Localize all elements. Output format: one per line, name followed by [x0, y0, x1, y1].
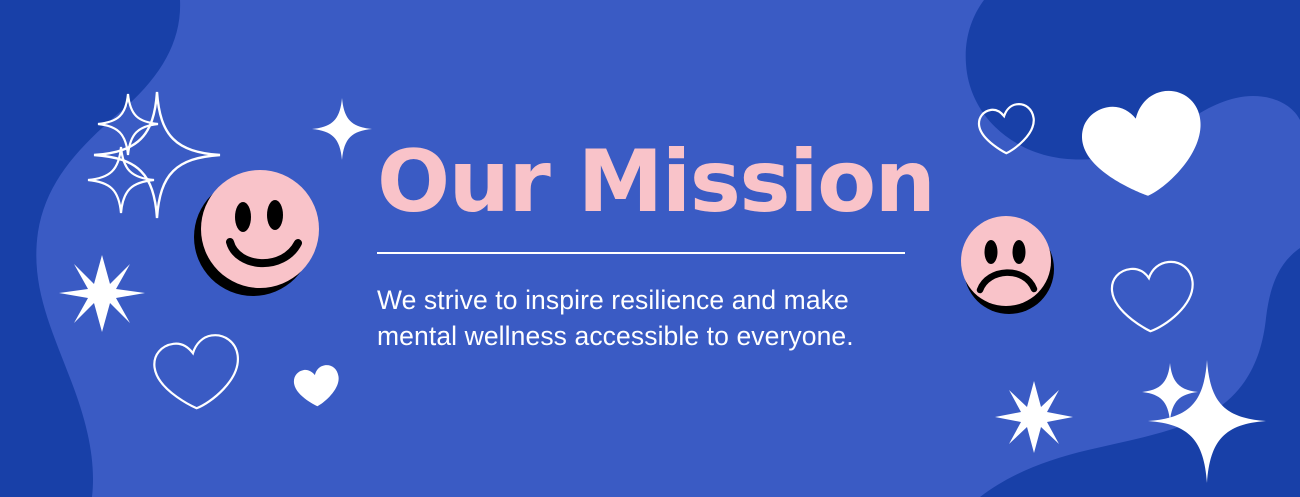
- sparkle-outline-small-bottom-left-icon: [88, 147, 154, 213]
- happy-face: [185, 155, 335, 305]
- page-title: Our Mission: [377, 140, 907, 224]
- blob-top-right: [966, 0, 1300, 160]
- heart-outline-right-icon: [1110, 260, 1198, 335]
- heart-filled-small-left-icon: [292, 363, 343, 409]
- heart-filled-large-right-icon: [1076, 85, 1214, 207]
- happy-face-right-eye: [267, 200, 283, 230]
- sparkle-filled-top-center-icon: [312, 98, 372, 160]
- title-divider: [377, 252, 905, 254]
- banner-content: Our Mission We strive to inspire resilie…: [377, 140, 907, 354]
- heart-outline-small-right-icon: [977, 102, 1038, 156]
- sparkle-filled-large-bottom-right-icon: [1148, 360, 1266, 483]
- starburst-right-icon: [995, 381, 1073, 453]
- heart-outline-left-icon: [151, 332, 244, 413]
- banner-subtitle: We strive to inspire resilience and make…: [377, 282, 907, 354]
- sad-face-circle: [961, 216, 1051, 306]
- sad-face-left-eye: [985, 240, 998, 264]
- sparkle-filled-small-bottom-right-icon: [1142, 363, 1198, 421]
- blob-top-left: [0, 0, 180, 497]
- happy-face-circle: [201, 170, 319, 288]
- sparkle-outline-small-top-left-icon: [98, 94, 158, 155]
- sad-face: [952, 200, 1072, 325]
- happy-face-left-eye: [235, 202, 251, 232]
- starburst-left-icon: [59, 255, 145, 332]
- sad-face-right-eye: [1013, 240, 1026, 264]
- our-mission-banner: Our Mission We strive to inspire resilie…: [0, 0, 1300, 497]
